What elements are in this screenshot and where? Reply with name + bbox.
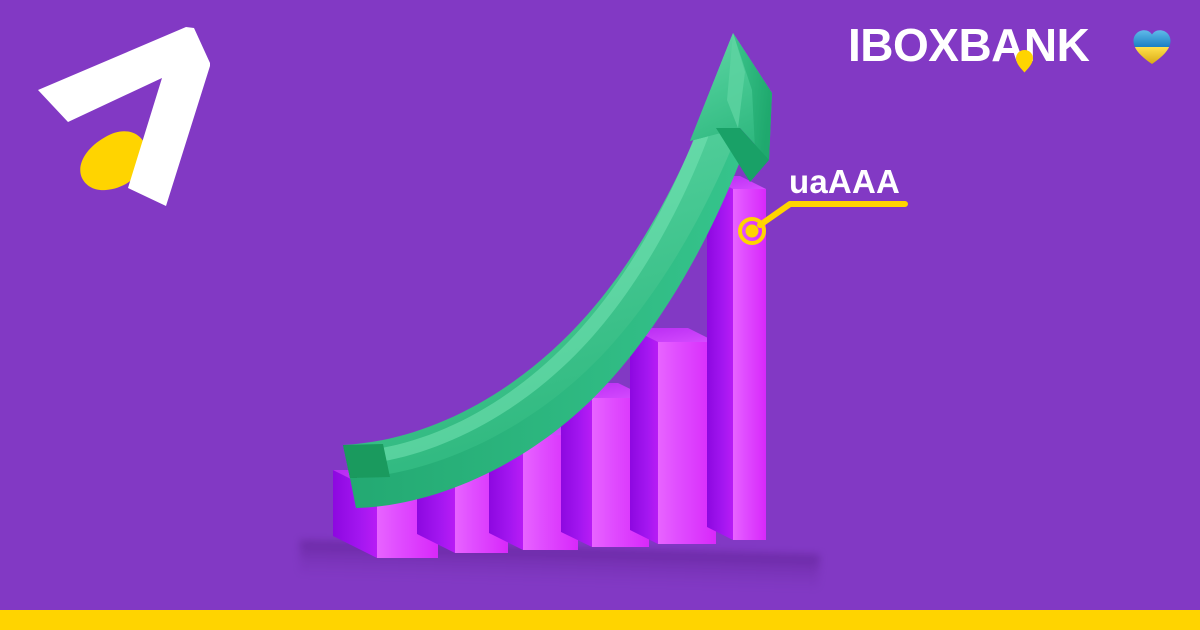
bottom-accent-strip [0, 610, 1200, 630]
iboxbank-wordmark-text: IBOXBANK [848, 20, 1090, 71]
rating-agency-logo-icon [34, 18, 214, 213]
rating-announcement-banner: uaAAA IBOXBANK [0, 0, 1200, 630]
heart-yellow-half [1132, 47, 1172, 67]
brand-lockup: IBOXBANK [848, 20, 1172, 74]
iboxbank-wordmark: IBOXBANK [848, 20, 1116, 74]
callout-leader-line [760, 204, 905, 225]
callout-marker-dot-icon [746, 225, 759, 238]
heart-blue-half [1132, 27, 1172, 47]
ukraine-flag-heart-icon [1132, 27, 1172, 67]
rating-value-label: uaAAA [789, 163, 900, 201]
